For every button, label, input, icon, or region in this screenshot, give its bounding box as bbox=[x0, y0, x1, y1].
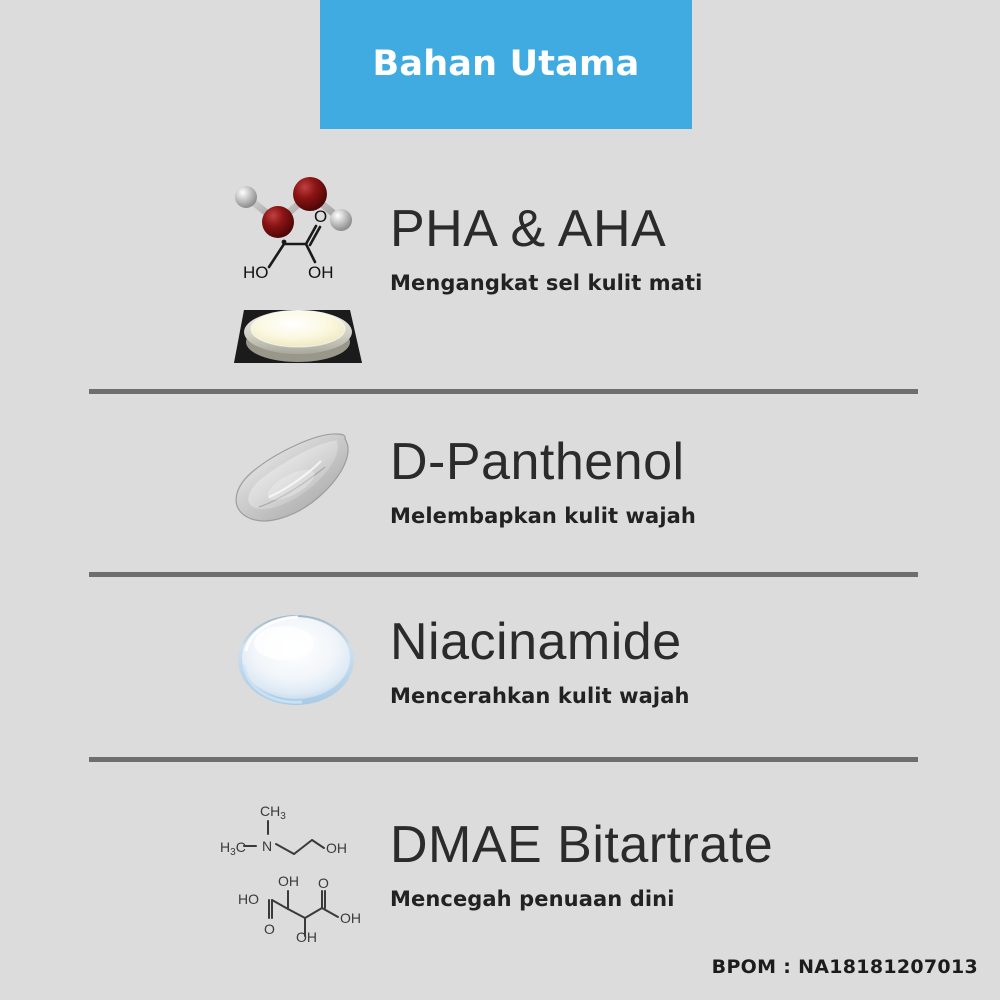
niacinamide-icon-svg bbox=[228, 605, 378, 710]
ingredient-text-dmae-bitartrate: DMAE Bitartrate Mencegah penuaan dini bbox=[390, 818, 773, 911]
label-o: O bbox=[314, 207, 327, 226]
label-o-tartaric-topright: O bbox=[318, 875, 329, 891]
ingredient-description: Mencegah penuaan dini bbox=[390, 887, 773, 911]
label-n: N bbox=[262, 838, 272, 854]
label-o-tartaric-bottom: O bbox=[264, 921, 275, 937]
dmae-icon-svg: CH3 N H3C OH OH HO O OH O OH bbox=[208, 778, 383, 943]
gel-droplet bbox=[238, 615, 354, 705]
petri-dish bbox=[234, 310, 362, 363]
label-ho-tartaric: HO bbox=[238, 891, 259, 907]
icon-dmae-bitartrate-structure: CH3 N H3C OH OH HO O OH O OH bbox=[208, 778, 383, 943]
ingredient-text-pha-aha: PHA & AHA Mengangkat sel kulit mati bbox=[390, 202, 702, 295]
ingredient-description: Mengangkat sel kulit mati bbox=[390, 271, 702, 295]
page-title: Bahan Utama bbox=[373, 47, 640, 82]
ingredient-row-pha-aha: HO OH O PHA & AHA Mengangkat sel kulit m… bbox=[0, 170, 1000, 370]
icon-glycolic-acid-molecule-and-petri-dish: HO OH O bbox=[222, 170, 372, 370]
label-ho: HO bbox=[243, 263, 269, 282]
gel-smear bbox=[236, 434, 348, 521]
ingredient-name: DMAE Bitartrate bbox=[390, 818, 773, 873]
label-ch3: CH3 bbox=[260, 803, 286, 822]
ingredient-text-niacinamide: Niacinamide Mencerahkan kulit wajah bbox=[390, 615, 690, 708]
label-oh-tartaric-top: OH bbox=[278, 873, 299, 889]
ingredient-text-d-panthenol: D-Panthenol Melembapkan kulit wajah bbox=[390, 435, 696, 528]
divider-1 bbox=[89, 389, 918, 394]
ingredient-name: PHA & AHA bbox=[390, 202, 702, 257]
ball-and-stick-model bbox=[235, 177, 352, 238]
icon-clear-gel-swatch bbox=[225, 425, 375, 540]
ingredient-row-niacinamide: Niacinamide Mencerahkan kulit wajah bbox=[0, 605, 1000, 710]
label-oh: OH bbox=[308, 263, 334, 282]
header-banner: Bahan Utama bbox=[320, 0, 692, 129]
dmae-atom-labels: CH3 N H3C OH OH HO O OH O OH bbox=[220, 803, 361, 945]
label-oh-tartaric-bottom: OH bbox=[296, 929, 317, 945]
d-panthenol-icon-svg bbox=[225, 425, 375, 540]
divider-2 bbox=[89, 572, 918, 577]
infographic-page: Bahan Utama bbox=[0, 0, 1000, 1000]
ingredient-row-d-panthenol: D-Panthenol Melembapkan kulit wajah bbox=[0, 425, 1000, 540]
ingredient-description: Mencerahkan kulit wajah bbox=[390, 684, 690, 708]
pha-aha-icon-svg: HO OH O bbox=[222, 170, 372, 370]
ingredient-row-dmae-bitartrate: CH3 N H3C OH OH HO O OH O OH DMAE Bitart… bbox=[0, 778, 1000, 943]
label-oh-ethanol: OH bbox=[326, 840, 347, 856]
ingredient-name: D-Panthenol bbox=[390, 435, 696, 490]
ingredient-description: Melembapkan kulit wajah bbox=[390, 504, 696, 528]
label-h3c: H3C bbox=[220, 839, 246, 858]
ingredient-name: Niacinamide bbox=[390, 615, 690, 670]
bpom-registration-number: BPOM : NA18181207013 bbox=[712, 956, 978, 978]
label-oh-tartaric-right: OH bbox=[340, 910, 361, 926]
divider-3 bbox=[89, 757, 918, 762]
icon-blue-gel-droplet bbox=[228, 605, 378, 710]
